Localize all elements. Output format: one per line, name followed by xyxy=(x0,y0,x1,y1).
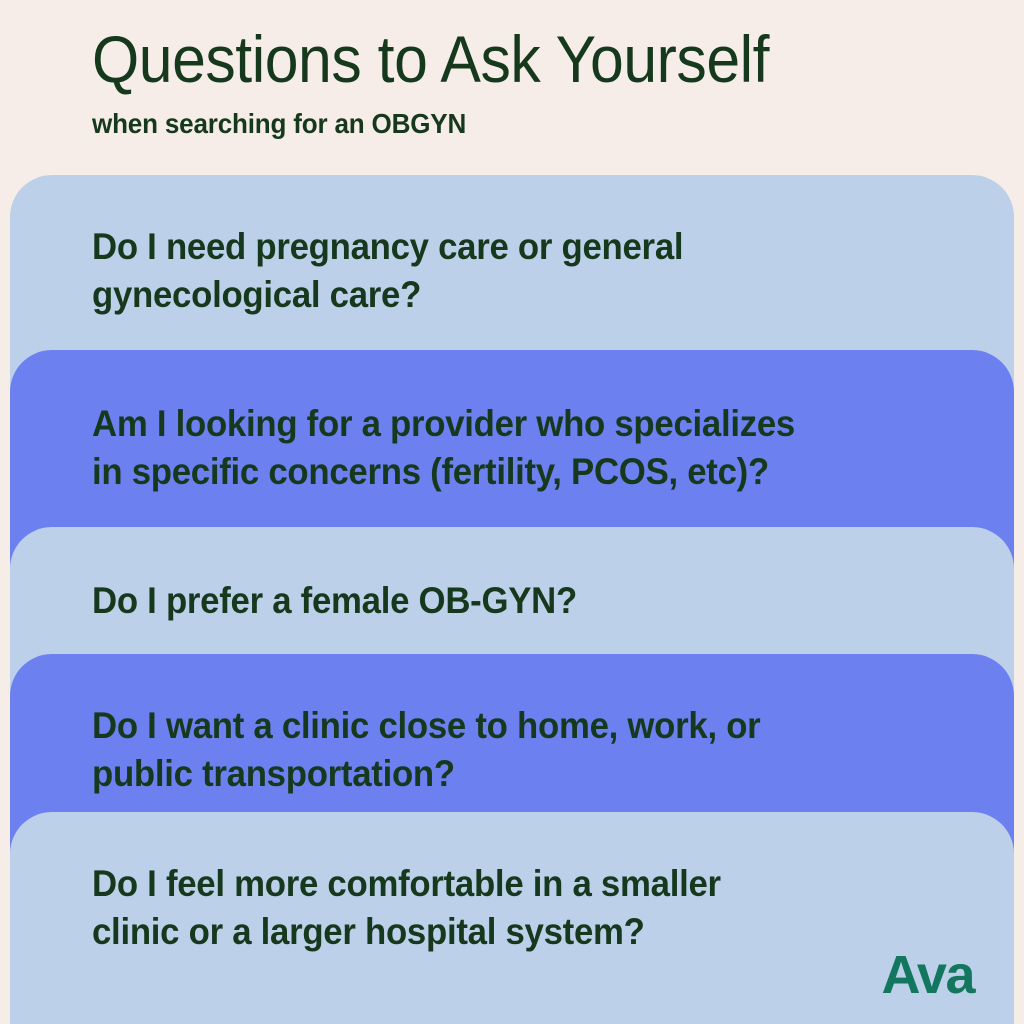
question-text: Do I prefer a female OB-GYN? xyxy=(92,577,921,625)
question-text: Do I want a clinic close to home, work, … xyxy=(92,702,921,798)
question-card-stack: Do I need pregnancy care or general gyne… xyxy=(0,0,1024,1024)
question-text: Do I feel more comfortable in a smaller … xyxy=(92,860,921,956)
ava-logo: Ava xyxy=(881,948,974,1002)
question-text: Am I looking for a provider who speciali… xyxy=(92,400,921,496)
question-card-5: Do I feel more comfortable in a smaller … xyxy=(10,812,1014,1024)
question-text: Do I need pregnancy care or general gyne… xyxy=(92,223,921,319)
